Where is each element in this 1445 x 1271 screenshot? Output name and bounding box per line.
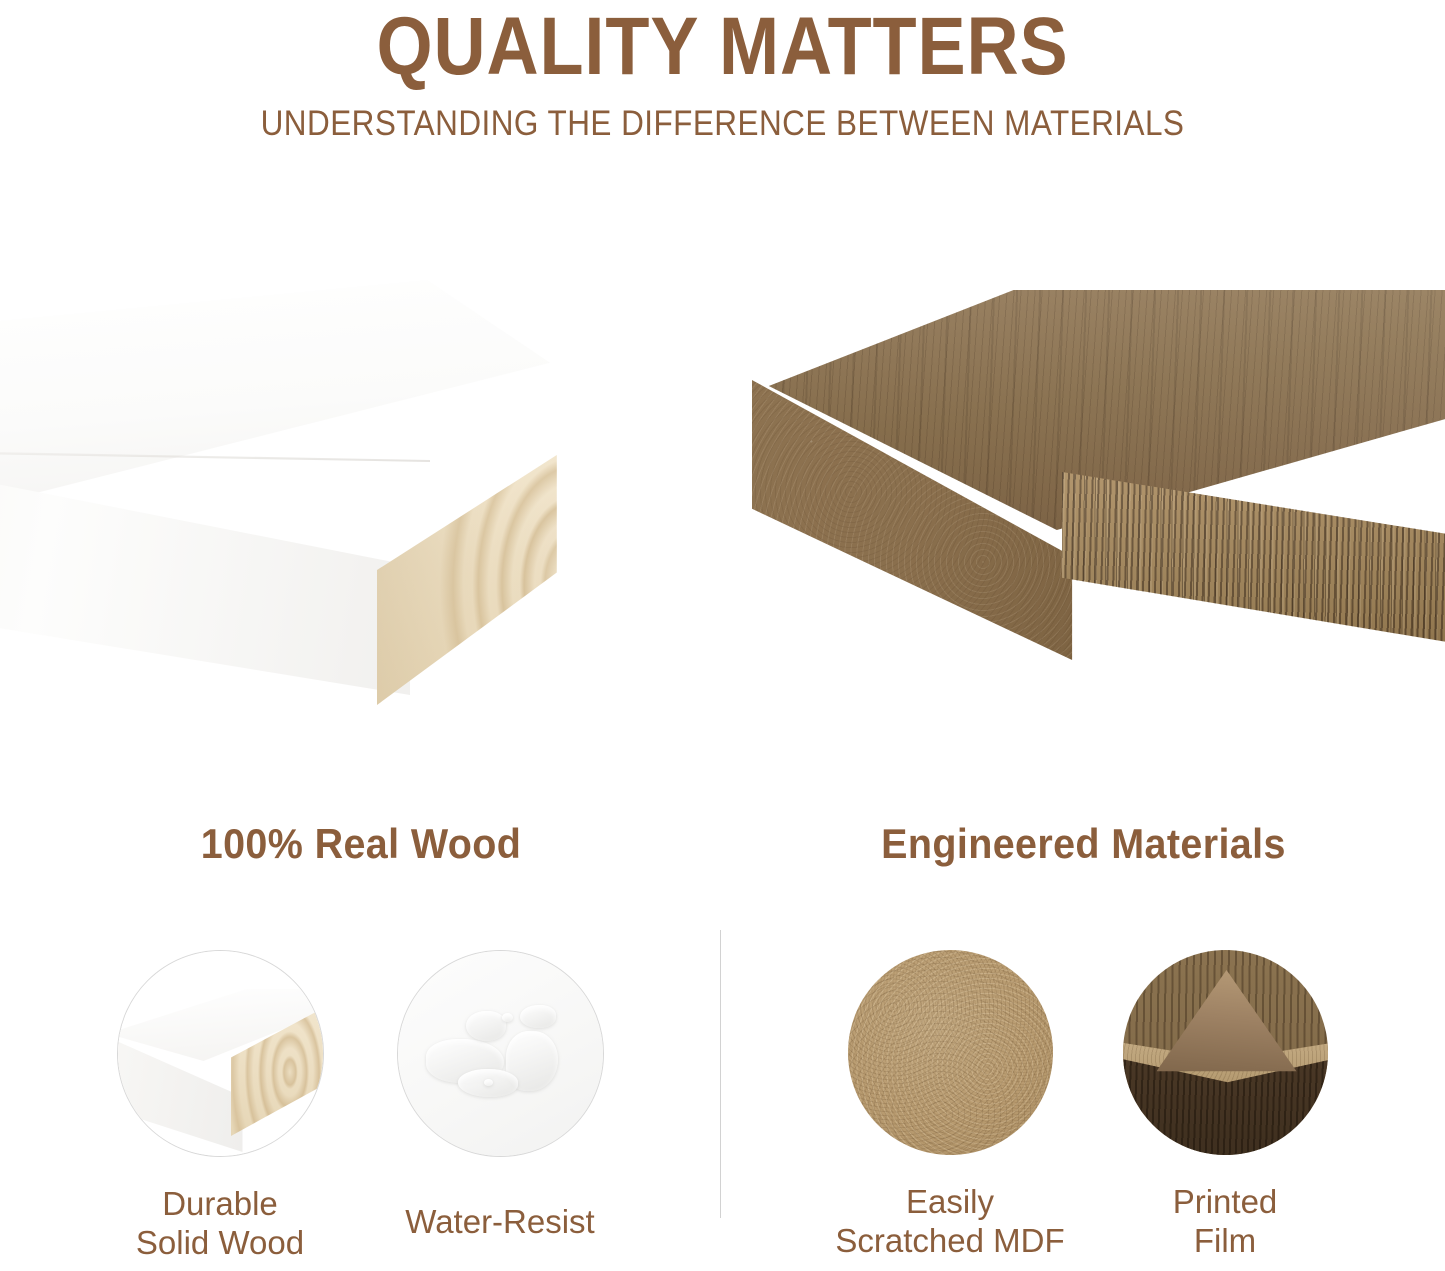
page-subtitle: UNDERSTANDING THE DIFFERENCE BETWEEN MAT… bbox=[72, 90, 1373, 144]
mdf-particle-texture-icon bbox=[848, 950, 1053, 1155]
shelf-top-surface bbox=[0, 280, 550, 510]
wood-end-grain-shading bbox=[377, 455, 632, 705]
page-title: QUALITY MATTERS bbox=[87, 0, 1359, 90]
mdf-front-shading bbox=[1062, 472, 1445, 702]
water-droplet bbox=[520, 1005, 556, 1028]
feature-durable-solid-wood: Durable Solid Wood bbox=[90, 950, 350, 1263]
water-droplets-icon bbox=[397, 950, 604, 1157]
feature-label: Water-Resist bbox=[370, 1203, 630, 1242]
peeling-printed-film-icon bbox=[1123, 950, 1328, 1155]
feature-label: Printed Film bbox=[1095, 1183, 1355, 1261]
water-droplet bbox=[502, 1013, 513, 1022]
water-droplet bbox=[484, 1079, 493, 1086]
feature-label: Durable Solid Wood bbox=[90, 1185, 350, 1263]
section-title-real-wood: 100% Real Wood bbox=[22, 820, 701, 868]
solid-wood-shelf-icon bbox=[117, 950, 324, 1157]
shelf-front-face bbox=[0, 455, 410, 695]
feature-water-resist: Water-Resist bbox=[370, 950, 630, 1242]
infographic-page: QUALITY MATTERS UNDERSTANDING THE DIFFER… bbox=[0, 0, 1445, 1271]
feature-row: Durable Solid Wood Water-Resist Easily S… bbox=[0, 950, 1445, 1271]
feature-easily-scratched-mdf: Easily Scratched MDF bbox=[820, 950, 1080, 1261]
section-title-engineered-materials: Engineered Materials bbox=[744, 820, 1424, 868]
feature-printed-film: Printed Film bbox=[1095, 950, 1355, 1261]
solid-wood-shelf-image bbox=[0, 280, 710, 700]
icon-background bbox=[848, 950, 1053, 1155]
feature-label: Easily Scratched MDF bbox=[820, 1183, 1080, 1261]
mdf-shelf-image bbox=[740, 290, 1445, 690]
header: QUALITY MATTERS UNDERSTANDING THE DIFFER… bbox=[0, 0, 1445, 144]
hero-product-comparison bbox=[0, 250, 1445, 750]
water-droplet bbox=[466, 1011, 506, 1041]
